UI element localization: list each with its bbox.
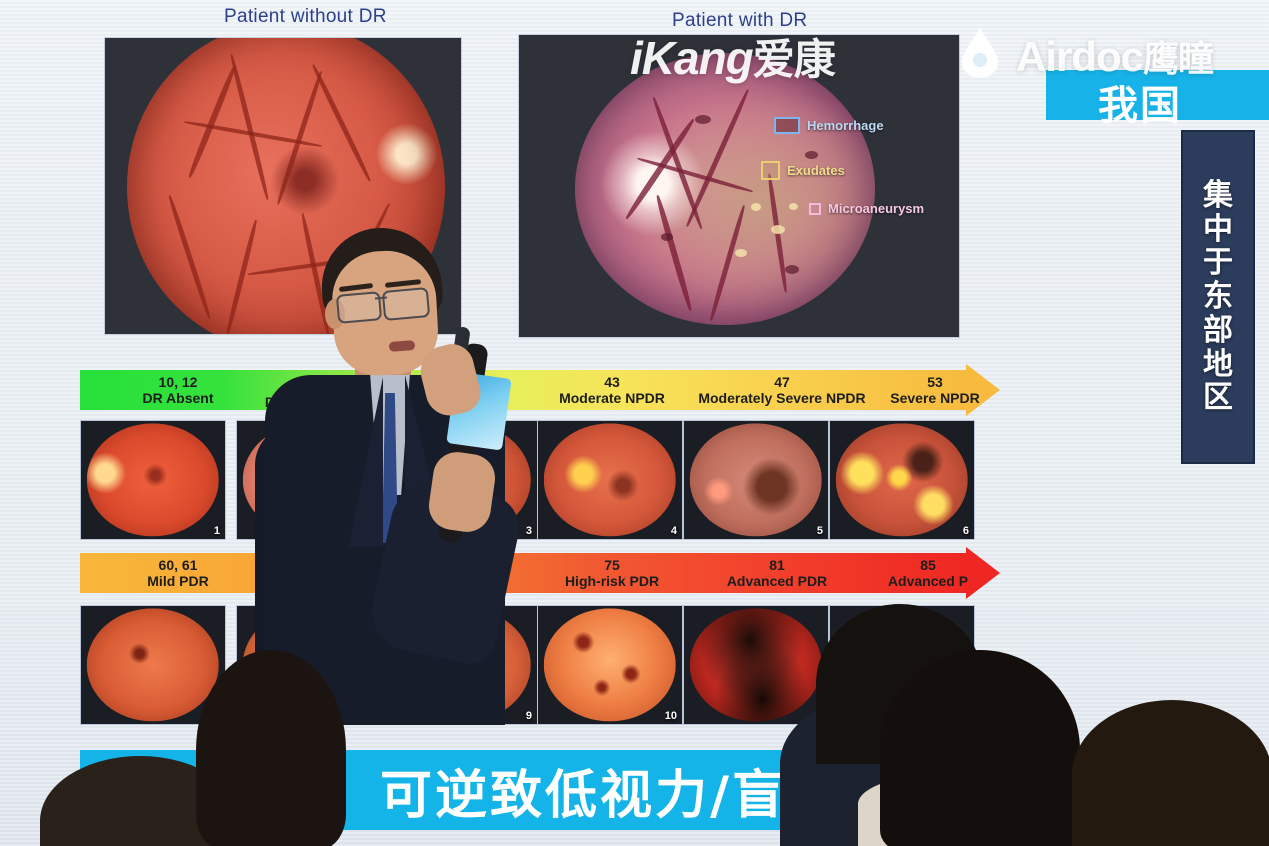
annotation-microaneurysm: Microaneurysm [809, 201, 924, 216]
speaker-presenter [255, 225, 515, 725]
right-banner-text: 我国 [1098, 73, 1182, 131]
vertical-char: 中 [1203, 214, 1233, 246]
fundus-thumbnail[interactable]: 4 [537, 420, 683, 540]
bottom-banner-text: 可逆致低视力/盲 [380, 753, 787, 828]
fundus-thumbnail[interactable]: 1 [80, 420, 226, 540]
eyeglasses-lens-right [382, 287, 430, 321]
annotation-label: Hemorrhage [807, 118, 884, 133]
audience-head [1072, 700, 1269, 846]
eyeglasses-lens-left [336, 291, 382, 324]
scale-segment: 60, 61 Mild PDR [108, 553, 248, 593]
scale-segment: 10, 12 DR Absent [108, 370, 248, 410]
annotation-label: Microaneurysm [828, 201, 924, 216]
mouth [389, 340, 416, 352]
fundus-image-with-dr: Hemorrhage Exudates Microaneurysm [518, 34, 960, 338]
vertical-char: 部 [1203, 315, 1233, 347]
scale-segment: 75 High-risk PDR [532, 553, 692, 593]
slide-title-right: Patient with DR [672, 10, 807, 32]
scale-segment: 53 Severe NPDR [860, 370, 1010, 410]
vertical-char: 地 [1203, 349, 1233, 381]
annotation-exudates: Exudates [761, 161, 845, 180]
vertical-text-box: 集 中 于 东 部 地 区 [1181, 130, 1255, 464]
scale-segment: 81 Advanced PDR [692, 553, 862, 593]
scale-segment: 47 Moderately Severe NPDR [692, 370, 872, 410]
scale-segment: 85 Advanced P [848, 553, 1008, 593]
vertical-char: 于 [1203, 247, 1233, 279]
fundus-thumbnail[interactable]: 6 [829, 420, 975, 540]
vertical-char: 东 [1203, 281, 1233, 313]
fundus-thumbnail[interactable]: 10 [537, 605, 683, 725]
microaneurysm-box-icon [809, 203, 821, 215]
presentation-photo: Patient without DR Patient with DR [0, 0, 1269, 846]
vertical-char: 集 [1203, 180, 1233, 212]
vertical-char: 区 [1203, 382, 1233, 414]
annotation-label: Exudates [787, 163, 845, 178]
severity-scale-bar-npdr: 10, 12 DR Absent DR DR 43 Moderate NPDR … [80, 370, 1000, 410]
scale-segment: 43 Moderate NPDR [532, 370, 692, 410]
fundus-thumbnail[interactable]: 11 [683, 605, 829, 725]
audience-head [880, 650, 1080, 846]
audience-head [196, 650, 346, 846]
fundus-thumbnail[interactable]: 5 [683, 420, 829, 540]
retina-disc-dr [575, 53, 875, 325]
annotation-hemorrhage: Hemorrhage [774, 117, 884, 134]
right-blue-banner: 我国 [1046, 70, 1269, 120]
slide-title-left: Patient without DR [224, 6, 387, 28]
severity-scale-bar-pdr: 60, 61 Mild PDR Mod 1 sk PDR 75 High-ris… [80, 553, 1000, 593]
hemorrhage-box-icon [774, 117, 800, 134]
exudates-box-icon [761, 161, 780, 180]
